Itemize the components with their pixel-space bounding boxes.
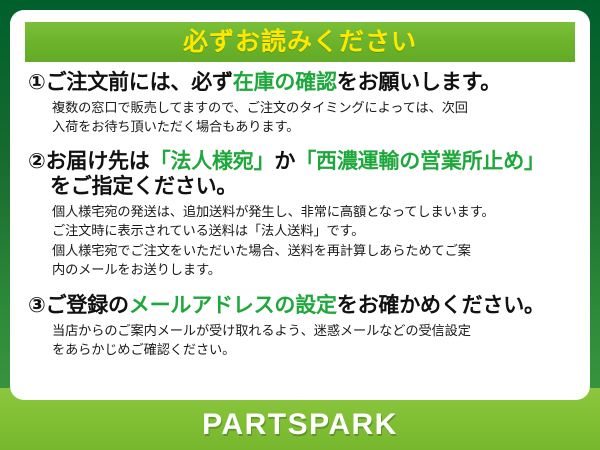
notice-item-3-heading: ③ご登録のメールアドレスの設定をお確かめください。	[28, 293, 576, 319]
notice-item-3-marker: ③	[28, 294, 46, 317]
notice-item-1-body-line-1: 複数の窓口で販売してますので、ご注文のタイミングによっては、次回	[52, 98, 576, 118]
notice-item-2-heading-part-1: お届け先は	[46, 150, 150, 173]
notice-item-3-body-line-2: をあらかじめご確認ください。	[52, 340, 576, 360]
notice-item-1-body-line-2: 入荷をお待ち頂いただく場合もあります。	[52, 117, 576, 137]
notice-item-1: ①ご注文前には、必ず在庫の確認をお願いします。 複数の窓口で販売してますので、ご…	[10, 70, 590, 137]
notice-item-2: ②お届け先は「法人様宛」か「西濃運輸の営業所止め」 をご指定ください。 個人様宅…	[10, 149, 590, 280]
notice-item-2-heading-continuation: をご指定ください。	[28, 174, 576, 200]
content-panel: 必ずお読みください ①ご注文前には、必ず在庫の確認をお願いします。 複数の窓口で…	[10, 10, 590, 400]
notice-item-1-heading-part-1: ご注文前には、必ず	[46, 71, 233, 94]
notice-item-2-heading-part-3: か	[274, 150, 295, 173]
header-bar: 必ずお読みください	[25, 22, 575, 62]
notice-item-1-heading-accent: 在庫の確認	[233, 71, 337, 94]
notice-item-2-body: 個人様宅宛の発送は、追加送料が発生し、非常に高額となってしまいます。 ご注文時に…	[28, 200, 576, 280]
notice-item-3-body-line-1: 当店からのご案内メールが受け取れるよう、迷惑メールなどの受信設定	[52, 321, 576, 341]
notice-item-2-body-line-4: 内のメールをお送りします。	[52, 260, 576, 280]
notice-item-3-body: 当店からのご案内メールが受け取れるよう、迷惑メールなどの受信設定 をあらかじめご…	[28, 319, 576, 360]
notice-item-2-marker: ②	[28, 150, 46, 173]
notice-item-2-body-line-3: 個人様宅宛でご注文をいただいた場合、送料を再計算しあらためてご案	[52, 241, 576, 261]
notice-item-3-heading-part-1: ご登録の	[46, 294, 129, 317]
notice-item-3-heading-part-3: をお確かめください。	[337, 294, 545, 317]
notice-item-3-heading-accent: メールアドレスの設定	[129, 294, 337, 317]
notice-item-2-heading-accent-2: 「西濃運輸の営業所止め」	[295, 150, 545, 173]
brand-logo: PARTSPARK	[202, 410, 398, 440]
notice-item-2-body-line-1: 個人様宅宛の発送は、追加送料が発生し、非常に高額となってしまいます。	[52, 202, 576, 222]
notice-item-list: ①ご注文前には、必ず在庫の確認をお願いします。 複数の窓口で販売してますので、ご…	[10, 68, 590, 360]
notice-item-2-body-line-2: ご注文時に表示されている送料は「法人送料」です。	[52, 221, 576, 241]
notice-item-1-body: 複数の窓口で販売してますので、ご注文のタイミングによっては、次回 入荷をお待ち頂…	[28, 96, 576, 137]
notice-item-1-heading: ①ご注文前には、必ず在庫の確認をお願いします。	[28, 70, 576, 96]
notice-item-1-heading-part-3: をお願いします。	[337, 71, 501, 94]
notice-item-2-heading-accent-1: 「法人様宛」	[150, 150, 275, 173]
notice-item-1-marker: ①	[28, 71, 46, 94]
notice-frame: 必ずお読みください ①ご注文前には、必ず在庫の確認をお願いします。 複数の窓口で…	[0, 0, 600, 450]
notice-item-3: ③ご登録のメールアドレスの設定をお確かめください。 当店からのご案内メールが受け…	[10, 293, 590, 360]
notice-item-2-heading: ②お届け先は「法人様宛」か「西濃運輸の営業所止め」	[28, 149, 576, 175]
page-title: 必ずお読みください	[183, 30, 417, 55]
footer: PARTSPARK	[0, 400, 600, 450]
